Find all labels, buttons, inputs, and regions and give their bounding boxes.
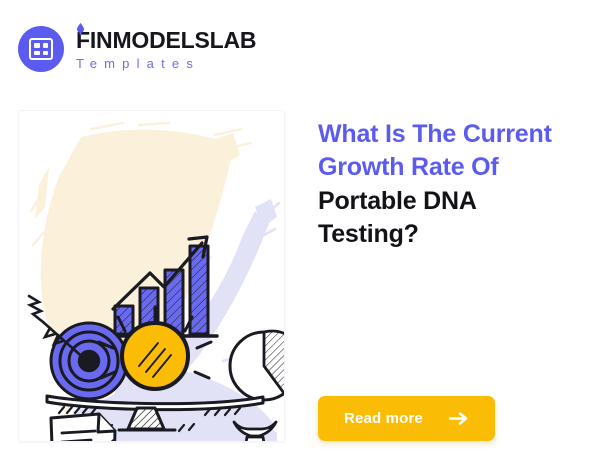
grid-glyph [29, 38, 53, 60]
brand-name: FINMODELSLAB [76, 29, 256, 52]
grid-cell [34, 43, 40, 48]
illustration-card [18, 110, 285, 442]
headline-block: What Is The Current Growth Rate Of Porta… [318, 118, 582, 250]
grid-cell [43, 43, 49, 48]
brand-text: FINMODELSLAB Templates [76, 29, 256, 70]
arrow-right-icon [449, 412, 469, 425]
read-more-button[interactable]: Read more [318, 396, 495, 441]
promo-card: FINMODELSLAB Templates [0, 0, 600, 464]
headline-lead: What Is The Current Growth Rate Of [318, 118, 582, 183]
business-analytics-doodle-illustration [19, 111, 284, 441]
grid-cell [43, 51, 49, 56]
grid-squares-icon [18, 26, 64, 72]
read-more-label: Read more [344, 410, 423, 427]
headline-main: Portable DNA Testing? [318, 185, 582, 250]
brand-subtitle: Templates [76, 57, 256, 70]
grid-cell [34, 51, 40, 56]
page-title: What Is The Current Growth Rate Of Porta… [318, 118, 582, 250]
brand-logo[interactable]: FINMODELSLAB Templates [18, 26, 256, 72]
